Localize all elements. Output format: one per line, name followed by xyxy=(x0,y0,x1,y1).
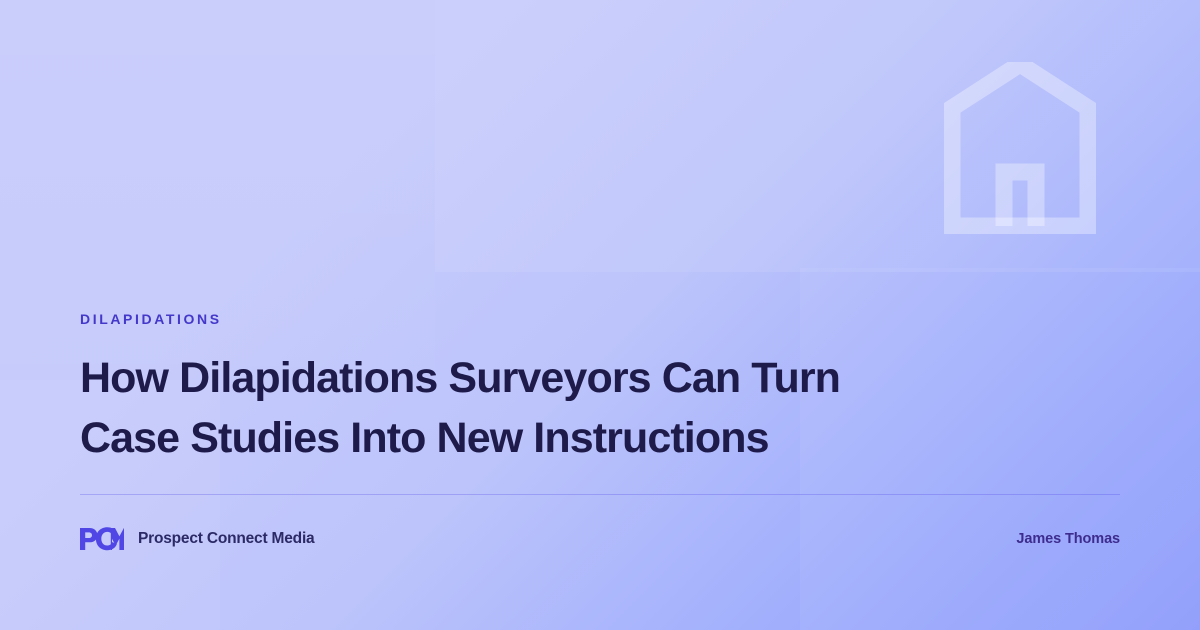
brand-name: Prospect Connect Media xyxy=(138,530,314,548)
category-label: DILAPIDATIONS xyxy=(80,311,222,327)
card-content: DILAPIDATIONS How Dilapidations Surveyor… xyxy=(80,0,1120,630)
card-footer: Prospect Connect Media James Thomas xyxy=(80,521,1120,557)
headline-line-1: How Dilapidations Surveyors Can Turn xyxy=(80,348,980,408)
page-title: How Dilapidations Surveyors Can Turn Cas… xyxy=(80,348,980,468)
share-card: DILAPIDATIONS How Dilapidations Surveyor… xyxy=(0,0,1200,630)
author-name: James Thomas xyxy=(1016,531,1120,547)
pcm-logo-icon xyxy=(80,527,124,551)
divider xyxy=(80,494,1120,495)
headline-line-2: Case Studies Into New Instructions xyxy=(80,408,980,468)
brand: Prospect Connect Media xyxy=(80,527,314,551)
